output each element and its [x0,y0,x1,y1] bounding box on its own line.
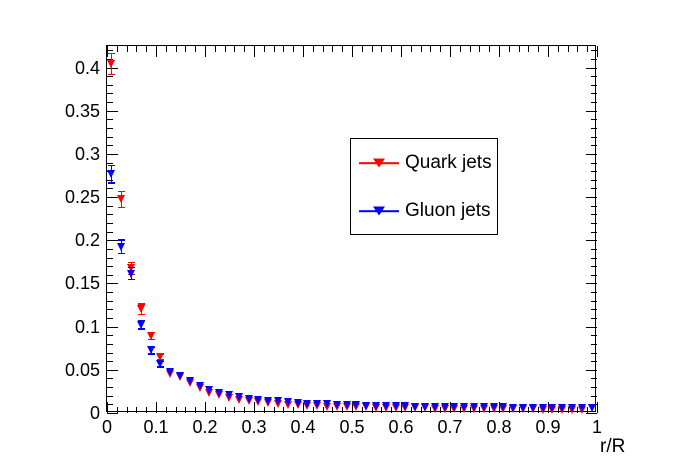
y-tick [107,266,113,267]
gluon-data-point [480,403,488,411]
y-tick-right [591,171,597,172]
y-tick-label: 0.35 [38,102,100,120]
x-tick-top [470,46,471,52]
gluon-data-point [548,404,556,412]
y-tick [107,370,118,371]
x-tick-top [352,46,353,57]
y-tick-right [591,50,597,51]
gluon-data-point [401,402,409,410]
y-tick-right [586,370,597,371]
gluon-data-point [225,391,233,399]
x-tick [195,407,196,413]
x-tick [597,402,598,413]
y-tick-label: 0.25 [38,188,100,206]
y-tick [107,378,113,379]
y-tick-right [591,353,597,354]
x-tick-top [205,46,206,57]
plot-frame: 00.050.10.150.20.250.30.350.4 00.10.20.3… [106,45,596,412]
y-tick [107,223,113,224]
x-tick-top [244,46,245,52]
x-tick [264,407,265,413]
y-tick-label: 0.2 [38,231,100,249]
y-tick [107,396,113,397]
y-tick-right [591,93,597,94]
y-tick-right [591,59,597,60]
y-tick [107,301,113,302]
gluon-data-point [254,396,262,404]
x-tick [225,407,226,413]
y-tick-right [586,240,597,241]
y-tick-right [586,154,597,155]
y-tick [107,318,113,319]
error-cap [128,279,135,280]
y-tick-right [591,76,597,77]
y-tick [107,154,118,155]
x-tick-top [185,46,186,52]
gluon-data-point [568,404,576,412]
y-tick [107,102,113,103]
x-tick-top [156,46,157,57]
x-tick-top [372,46,373,52]
gluon-data-point [107,170,115,178]
y-tick [107,353,113,354]
y-tick [107,327,118,328]
y-tick [107,361,113,362]
error-cap [108,53,115,54]
x-tick-top [538,46,539,52]
quark-data-point [117,195,125,203]
gluon-data-point [499,403,507,411]
x-tick-top [411,46,412,52]
gluon-data-point [539,404,547,412]
gluon-data-point [352,401,360,409]
error-cap [108,165,115,166]
error-cap [108,74,115,75]
x-tick-top [401,46,402,57]
y-tick [107,206,113,207]
gluon-data-point [558,404,566,412]
x-tick-top [127,46,128,52]
x-tick-top [499,46,500,57]
gluon-data-point [323,400,331,408]
x-tick [215,407,216,413]
error-cap [128,267,135,268]
x-tick-label: 1 [567,418,627,436]
gluon-data-point [176,372,184,380]
gluon-data-point [196,382,204,390]
error-cap [118,191,125,192]
x-tick-top [519,46,520,52]
gluon-data-point [294,399,302,407]
gluon-data-point [421,403,429,411]
y-tick [107,275,113,276]
x-tick [176,407,177,413]
x-tick-top [303,46,304,57]
gluon-data-point [117,243,125,251]
x-tick-top [391,46,392,52]
gluon-data-point [362,402,370,410]
gluon-data-point [460,403,468,411]
legend[interactable]: Quark jets Gluon jets [350,138,498,235]
plot-canvas: dΨ/dr r/R 00.050.10.150.20.250.30.350.4 … [0,0,696,472]
y-tick [107,188,113,189]
gluon-data-point [127,270,135,278]
y-tick-right [586,68,597,69]
x-tick-top [146,46,147,52]
y-tick-right [591,275,597,276]
gluon-data-point [529,404,537,412]
gluon-data-point [382,402,390,410]
gluon-data-point [588,404,596,412]
y-tick-right [591,214,597,215]
gluon-data-point [186,377,194,385]
x-tick [205,402,206,413]
y-tick-label: 0.3 [38,145,100,163]
x-tick [136,407,137,413]
gluon-data-point [205,386,213,394]
error-cap [128,262,135,263]
quark-legend-marker [359,162,399,164]
x-tick-top [528,46,529,52]
y-tick-right [591,206,597,207]
gluon-data-point [392,402,400,410]
y-tick-right [591,128,597,129]
x-tick-top [342,46,343,52]
gluon-data-point [578,404,586,412]
y-tick [107,232,113,233]
y-tick [107,344,113,345]
error-cap [108,182,115,183]
x-tick-top [176,46,177,52]
x-tick-top [225,46,226,52]
legend-label-gluon: Gluon jets [405,200,491,222]
y-tick-right [586,111,597,112]
x-tick [185,407,186,413]
gluon-data-point [274,397,282,405]
y-tick [107,283,118,284]
y-tick-right [591,102,597,103]
x-tick-top [274,46,275,52]
gluon-data-point [411,403,419,411]
gluon-data-point [372,402,380,410]
gluon-data-point [313,400,321,408]
x-tick-top [430,46,431,52]
x-tick-top [587,46,588,52]
legend-label-quark: Quark jets [405,152,492,174]
x-tick-top [479,46,480,52]
gluon-data-point [235,393,243,401]
y-tick [107,292,113,293]
y-tick-right [591,378,597,379]
x-tick-top [548,46,549,57]
gluon-data-point [137,321,145,329]
gluon-data-point [245,395,253,403]
y-tick-label: 0.15 [38,274,100,292]
x-tick-top [460,46,461,52]
x-tick-top [107,46,108,57]
quark-data-point [107,60,115,68]
y-tick-right [591,361,597,362]
x-tick-top [117,46,118,52]
x-tick-top [597,46,598,57]
gluon-data-point [215,389,223,397]
y-tick-right [591,137,597,138]
y-tick-label: 0.4 [38,59,100,77]
x-tick-top [558,46,559,52]
gluon-data-point [490,403,498,411]
error-cap [118,207,125,208]
gluon-data-point [264,397,272,405]
y-tick [107,240,118,241]
x-tick-top [166,46,167,52]
x-tick-top [136,46,137,52]
gluon-data-point [519,404,527,412]
y-tick-right [591,266,597,267]
x-tick-top [234,46,235,52]
y-tick-label: 0.1 [38,318,100,336]
y-tick-right [591,387,597,388]
y-tick [107,413,118,414]
gluon-data-point [509,404,517,412]
y-tick [107,163,113,164]
y-tick [107,119,113,120]
y-tick [107,50,113,51]
y-tick [107,93,113,94]
x-tick [156,402,157,413]
y-tick-right [591,309,597,310]
x-tick-top [362,46,363,52]
legend-entry-quark[interactable]: Quark jets [351,139,497,187]
gluon-data-point [450,403,458,411]
y-tick-right [591,249,597,250]
gluon-data-point [431,403,439,411]
x-tick [166,407,167,413]
x-tick-top [489,46,490,52]
x-tick-top [450,46,451,57]
y-tick-right [591,145,597,146]
gluon-data-point [284,398,292,406]
y-tick-right [591,85,597,86]
y-tick-right [591,335,597,336]
y-tick-right [591,258,597,259]
gluon-data-point [147,346,155,354]
y-tick [107,309,113,310]
y-tick [107,404,113,405]
error-cap [118,239,125,240]
x-tick-top [323,46,324,52]
x-tick-top [381,46,382,52]
y-tick-right [586,197,597,198]
gluon-data-point [470,403,478,411]
x-tick-top [313,46,314,52]
y-tick-right [591,223,597,224]
y-tick-right [591,188,597,189]
x-tick-top [254,46,255,57]
quark-data-point [137,305,145,313]
y-tick-right [586,413,597,414]
quark-data-point [147,332,155,340]
x-axis-label: r/R [600,436,625,458]
x-tick [244,407,245,413]
gluon-data-point [343,401,351,409]
x-tick [146,407,147,413]
x-tick-top [568,46,569,52]
y-tick [107,85,113,86]
y-tick-right [586,327,597,328]
y-tick-right [586,283,597,284]
x-tick-top [421,46,422,52]
error-cap [138,314,145,315]
x-tick-top [264,46,265,52]
y-tick [107,258,113,259]
gluon-data-point [441,403,449,411]
x-tick-top [332,46,333,52]
gluon-data-point [303,400,311,408]
error-cap [118,253,125,254]
y-tick [107,137,113,138]
x-tick-top [577,46,578,52]
x-tick-top [440,46,441,52]
gluon-data-point [166,368,174,376]
x-tick-top [283,46,284,52]
gluon-legend-marker [359,210,399,212]
y-tick [107,387,113,388]
x-tick-top [195,46,196,52]
x-tick-top [215,46,216,52]
y-tick-right [591,301,597,302]
x-tick-top [293,46,294,52]
y-tick-right [591,180,597,181]
y-tick-right [591,292,597,293]
y-tick [107,111,118,112]
y-tick [107,214,113,215]
y-tick-right [591,396,597,397]
y-tick-right [591,344,597,345]
y-tick [107,249,113,250]
y-tick-right [591,163,597,164]
x-tick-top [509,46,510,52]
y-tick [107,76,113,77]
y-tick [107,145,113,146]
y-tick [107,128,113,129]
x-tick [127,407,128,413]
y-tick-right [591,232,597,233]
gluon-data-point [156,360,164,368]
legend-entry-gluon[interactable]: Gluon jets [351,187,497,235]
y-tick-right [591,119,597,120]
gluon-data-point [333,401,341,409]
x-tick [234,407,235,413]
y-tick-right [591,318,597,319]
y-tick-label: 0.05 [38,361,100,379]
y-tick [107,335,113,336]
